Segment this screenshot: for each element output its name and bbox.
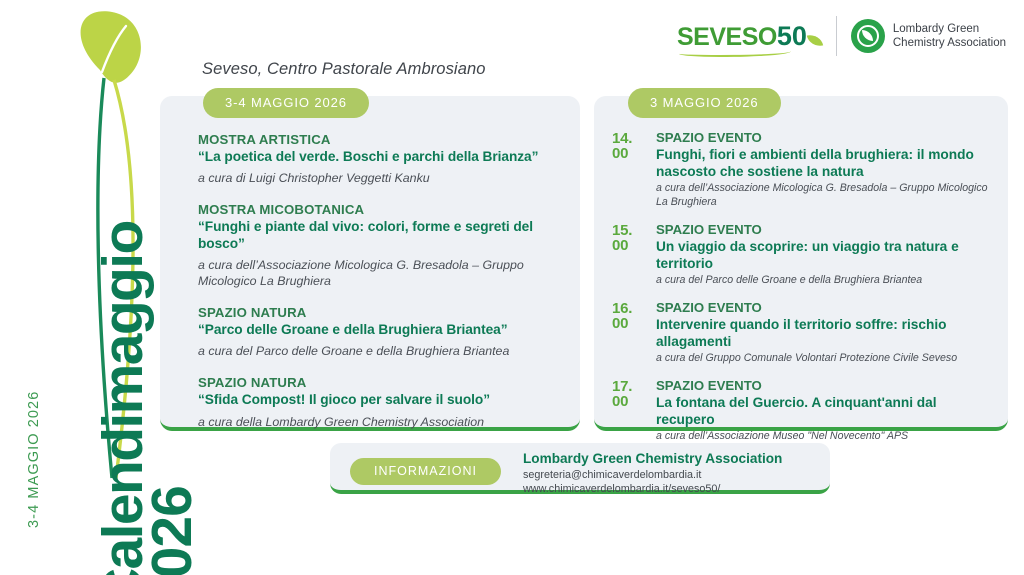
schedule-title: La fontana del Guercio. A cinquant'anni … xyxy=(656,394,994,428)
exhibition-category: MOSTRA MICOBOTANICA xyxy=(198,202,562,218)
lgca-label: Lombardy Green Chemistry Association xyxy=(893,22,1006,51)
schedule-item: 14.00SPAZIO EVENTOFunghi, fiori e ambien… xyxy=(612,130,994,210)
info-organization: Lombardy Green Chemistry Association xyxy=(523,450,782,468)
schedule-item: 17.00SPAZIO EVENTOLa fontana del Guercio… xyxy=(612,378,994,444)
lgca-label-line1: Lombardy Green xyxy=(893,22,1006,36)
exhibition-list: MOSTRA ARTISTICA“La poetica del verde. B… xyxy=(160,96,580,430)
info-contact: Lombardy Green Chemistry Association seg… xyxy=(523,450,782,496)
schedule-hour: 17. xyxy=(612,379,656,394)
exhibition-by: a cura del Parco delle Groane e della Br… xyxy=(198,344,562,360)
exhibition-item: MOSTRA ARTISTICA“La poetica del verde. B… xyxy=(198,132,562,187)
exhibition-item: SPAZIO NATURA“Parco delle Groane e della… xyxy=(198,305,562,360)
seveso-leaf-icon xyxy=(807,32,823,48)
left-branding: 3-4 MAGGIO 2026 Calendimaggio 2026 xyxy=(0,0,160,575)
vertical-date: 3-4 MAGGIO 2026 xyxy=(26,288,42,528)
logo-divider xyxy=(836,16,837,56)
schedule-time: 15.00 xyxy=(612,222,656,288)
schedule-title: Un viaggio da scoprire: un viaggio tra n… xyxy=(656,238,994,272)
exhibition-title: “Funghi e piante dal vivo: colori, forme… xyxy=(198,218,562,252)
venue-text: Seveso, Centro Pastorale Ambrosiano xyxy=(202,60,486,79)
schedule-item: 15.00SPAZIO EVENTOUn viaggio da scoprire… xyxy=(612,222,994,288)
exhibition-category: SPAZIO NATURA xyxy=(198,305,562,321)
exhibition-title: “Sfida Compost! Il gioco per salvare il … xyxy=(198,391,562,408)
exhibition-category: MOSTRA ARTISTICA xyxy=(198,132,562,148)
date-pill-right: 3 MAGGIO 2026 xyxy=(628,88,781,118)
info-website[interactable]: www.chimicaverdelombardia.it/seveso50/ xyxy=(523,482,782,496)
panel-exhibitions: MOSTRA ARTISTICA“La poetica del verde. B… xyxy=(160,96,580,431)
footer: EVENTO SOSTENUTO DA: CON IL PATROCINIO D… xyxy=(0,508,1024,575)
schedule-time: 14.00 xyxy=(612,130,656,210)
schedule-hour: 16. xyxy=(612,301,656,316)
exhibition-title: “Parco delle Groane e della Brughiera Br… xyxy=(198,321,562,338)
schedule-by: a cura dell’Associazione Micologica G. B… xyxy=(656,182,994,210)
schedule-hour: 15. xyxy=(612,223,656,238)
panel-schedule: 14.00SPAZIO EVENTOFunghi, fiori e ambien… xyxy=(594,96,1008,431)
exhibition-by: a cura dell’Associazione Micologica G. B… xyxy=(198,258,562,290)
schedule-list: 14.00SPAZIO EVENTOFunghi, fiori e ambien… xyxy=(594,96,1008,444)
date-pill-left: 3-4 MAGGIO 2026 xyxy=(203,88,369,118)
schedule-item: 16.00SPAZIO EVENTOIntervenire quando il … xyxy=(612,300,994,366)
exhibition-category: SPAZIO NATURA xyxy=(198,375,562,391)
poster-root: 3-4 MAGGIO 2026 Calendimaggio 2026 Seves… xyxy=(0,0,1024,575)
exhibition-item: SPAZIO NATURA“Sfida Compost! Il gioco pe… xyxy=(198,375,562,430)
schedule-minute: 00 xyxy=(612,394,656,409)
info-pill: INFORMAZIONI xyxy=(350,458,501,485)
schedule-title: Intervenire quando il territorio soffre:… xyxy=(656,316,994,350)
schedule-time: 16.00 xyxy=(612,300,656,366)
lgca-label-line2: Chemistry Association xyxy=(893,36,1006,50)
lgca-logo: Lombardy Green Chemistry Association xyxy=(851,19,1006,53)
exhibition-by: a cura di Luigi Christopher Veggetti Kan… xyxy=(198,171,562,187)
exhibition-item: MOSTRA MICOBOTANICA“Funghi e piante dal … xyxy=(198,202,562,290)
schedule-title: Funghi, fiori e ambienti della brughiera… xyxy=(656,146,994,180)
info-email[interactable]: segreteria@chimicaverdelombardia.it xyxy=(523,468,782,482)
schedule-by: a cura del Gruppo Comunale Volontari Pro… xyxy=(656,352,994,366)
seveso-swoosh-icon xyxy=(679,48,791,57)
schedule-minute: 00 xyxy=(612,238,656,253)
schedule-hour: 14. xyxy=(612,131,656,146)
seveso-number: 50 xyxy=(777,23,807,50)
header-logos: SEVESO 50 Lombardy Green Chemistry Assoc… xyxy=(677,16,1006,56)
seveso50-logo: SEVESO 50 xyxy=(677,23,822,50)
schedule-category: SPAZIO EVENTO xyxy=(656,378,994,394)
exhibition-by: a cura della Lombardy Green Chemistry As… xyxy=(198,415,562,431)
schedule-minute: 00 xyxy=(612,146,656,161)
schedule-category: SPAZIO EVENTO xyxy=(656,130,994,146)
schedule-time: 17.00 xyxy=(612,378,656,444)
schedule-category: SPAZIO EVENTO xyxy=(656,300,994,316)
lgca-circle-icon xyxy=(851,19,885,53)
exhibition-title: “La poetica del verde. Boschi e parchi d… xyxy=(198,148,562,165)
schedule-by: a cura del Parco delle Groane e della Br… xyxy=(656,274,994,288)
schedule-category: SPAZIO EVENTO xyxy=(656,222,994,238)
seveso-word: SEVESO xyxy=(677,25,777,50)
schedule-minute: 00 xyxy=(612,316,656,331)
